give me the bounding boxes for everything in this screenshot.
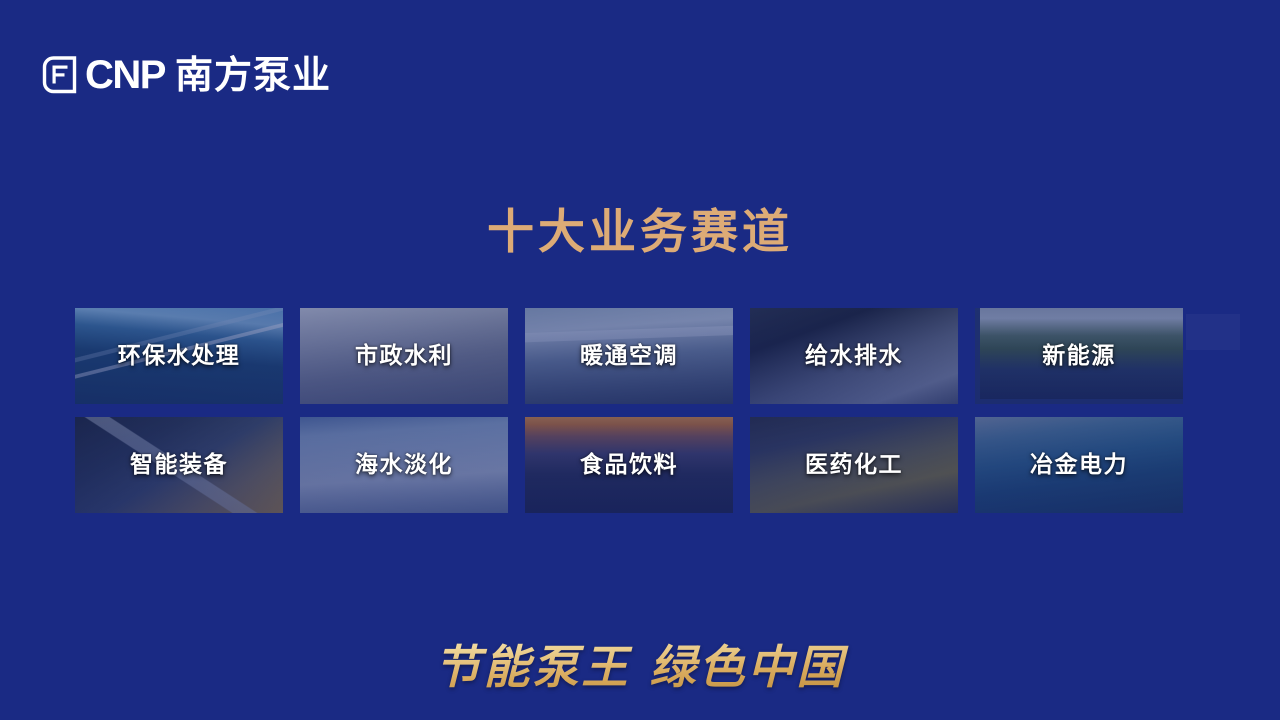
track-card-label: 新能源 [1042,345,1116,368]
track-card-jishuipaishui[interactable]: 给水排水 [750,308,958,404]
track-card-yejindianli[interactable]: 冶金电力 [975,417,1183,513]
logo-latin-text: CNP [85,55,165,95]
track-card-nuantongkongtiao[interactable]: 暖通空调 [525,308,733,404]
slide-canvas: CNP 南方泵业 十大业务赛道 环保水处理 市政水利 暖通空调 给水排水 [0,0,1280,720]
track-card-label: 医药化工 [805,454,903,477]
track-card-label: 暖通空调 [580,345,678,368]
track-card-label: 给水排水 [805,345,903,368]
track-card-xinnengyuan[interactable]: 新能源 [975,308,1183,404]
track-card-shizhengshuili[interactable]: 市政水利 [300,308,508,404]
track-card-label: 海水淡化 [355,454,453,477]
page-title: 十大业务赛道 [0,207,1280,259]
track-card-zhinengzhuangbei[interactable]: 智能装备 [75,417,283,513]
track-card-label: 冶金电力 [1030,454,1128,477]
track-card-label: 环保水处理 [118,345,241,368]
track-card-shipinyinliao[interactable]: 食品饮料 [525,417,733,513]
logo-chinese-text: 南方泵业 [175,56,331,94]
slide-tagline: 节能泵王 绿色中国 [0,636,1280,698]
track-card-label: 食品饮料 [580,454,678,477]
track-card-haishuidanhua[interactable]: 海水淡化 [300,417,508,513]
cnp-monogram-icon [41,56,79,94]
brand-logo: CNP 南方泵业 [41,52,331,98]
background-artifact-rect [1186,314,1240,350]
business-track-grid: 环保水处理 市政水利 暖通空调 给水排水 新能源 智能装备 [75,308,1185,513]
track-card-yiyaohuagong[interactable]: 医药化工 [750,417,958,513]
track-card-label: 智能装备 [130,454,228,477]
track-card-huanbaoshuichuli[interactable]: 环保水处理 [75,308,283,404]
track-card-label: 市政水利 [355,345,453,368]
